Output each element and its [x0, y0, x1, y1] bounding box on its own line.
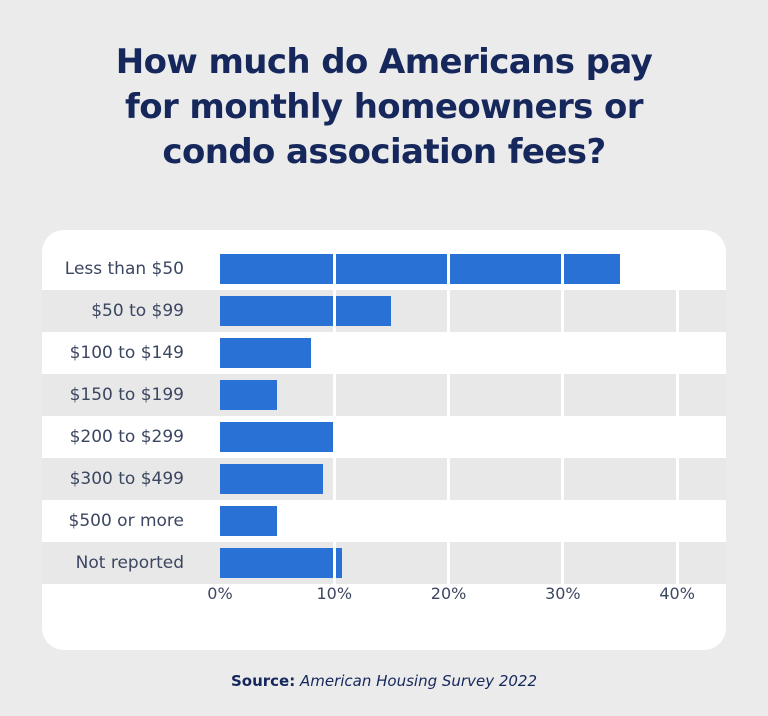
gridline — [676, 500, 679, 542]
plot-region — [220, 416, 700, 458]
x-axis-tick: 20% — [431, 584, 467, 603]
bar — [220, 548, 342, 578]
gridline — [447, 458, 450, 500]
gridline — [561, 416, 564, 458]
category-label: $100 to $149 — [42, 332, 202, 374]
chart-row: Not reported — [42, 542, 726, 584]
plot-region — [220, 248, 700, 290]
gridline — [676, 290, 679, 332]
gridline — [333, 542, 336, 584]
x-axis-tick: 10% — [317, 584, 353, 603]
plot-region — [220, 500, 700, 542]
gridline — [561, 290, 564, 332]
gridline — [447, 248, 450, 290]
category-label: Less than $50 — [42, 248, 202, 290]
gridline — [561, 542, 564, 584]
page-title-line-2: for monthly homeowners or — [0, 85, 768, 130]
bar — [220, 338, 311, 368]
gridline — [676, 416, 679, 458]
chart-row: $200 to $299 — [42, 416, 726, 458]
source-text: American Housing Survey 2022 — [300, 672, 537, 690]
category-label: Not reported — [42, 542, 202, 584]
gridline — [561, 458, 564, 500]
source-prefix: Source: — [231, 672, 295, 690]
gridline — [676, 458, 679, 500]
gridline — [447, 500, 450, 542]
gridline — [447, 542, 450, 584]
gridline — [447, 374, 450, 416]
plot-region — [220, 542, 700, 584]
gridline — [561, 500, 564, 542]
chart-row: $300 to $499 — [42, 458, 726, 500]
gridline — [676, 248, 679, 290]
gridline — [333, 332, 336, 374]
x-axis-tick: 40% — [659, 584, 695, 603]
x-axis: 0%10%20%30%40% — [220, 584, 700, 614]
plot-region — [220, 290, 700, 332]
gridline — [561, 248, 564, 290]
category-label: $300 to $499 — [42, 458, 202, 500]
gridline — [447, 416, 450, 458]
chart-row: Less than $50 — [42, 248, 726, 290]
gridline — [333, 248, 336, 290]
category-label: $150 to $199 — [42, 374, 202, 416]
gridline — [333, 416, 336, 458]
gridline — [676, 332, 679, 374]
bar — [220, 464, 323, 494]
bar — [220, 380, 277, 410]
source-note: Source: American Housing Survey 2022 — [0, 672, 768, 690]
gridline — [333, 290, 336, 332]
gridline — [447, 332, 450, 374]
gridline — [447, 290, 450, 332]
gridline — [333, 458, 336, 500]
page-title-line-3: condo association fees? — [0, 130, 768, 175]
gridline — [676, 374, 679, 416]
gridline — [676, 542, 679, 584]
page-title-line-1: How much do Americans pay — [0, 40, 768, 85]
bar — [220, 296, 391, 326]
gridline — [333, 374, 336, 416]
gridline — [561, 374, 564, 416]
page-title: How much do Americans pay for monthly ho… — [0, 40, 768, 175]
category-label: $50 to $99 — [42, 290, 202, 332]
x-axis-tick: 30% — [545, 584, 581, 603]
chart-row: $500 or more — [42, 500, 726, 542]
plot-region — [220, 374, 700, 416]
gridline — [333, 500, 336, 542]
plot-region — [220, 458, 700, 500]
category-label: $200 to $299 — [42, 416, 202, 458]
chart-row: $50 to $99 — [42, 290, 726, 332]
chart-row: $150 to $199 — [42, 374, 726, 416]
bar-chart: Less than $50$50 to $99$100 to $149$150 … — [42, 248, 726, 584]
bar — [220, 422, 334, 452]
chart-card: Less than $50$50 to $99$100 to $149$150 … — [42, 230, 726, 650]
category-label: $500 or more — [42, 500, 202, 542]
x-axis-tick: 0% — [207, 584, 232, 603]
chart-row: $100 to $149 — [42, 332, 726, 374]
bar — [220, 506, 277, 536]
bar — [220, 254, 620, 284]
gridline — [561, 332, 564, 374]
plot-region — [220, 332, 700, 374]
